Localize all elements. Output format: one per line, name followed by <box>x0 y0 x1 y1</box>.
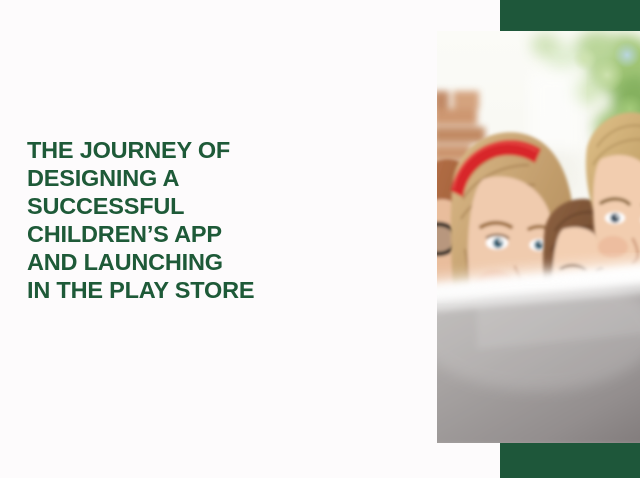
accent-band-bottom <box>500 443 640 478</box>
accent-band-top <box>500 0 640 31</box>
hero-photo-illustration <box>437 31 640 443</box>
slide-canvas: THE JOURNEY OF DESIGNING A SUCCESSFUL CH… <box>0 0 640 478</box>
title-line-1: THE JOURNEY OF <box>27 136 367 164</box>
title-line-6: IN THE PLAY STORE <box>27 276 367 304</box>
slide-title: THE JOURNEY OF DESIGNING A SUCCESSFUL CH… <box>27 136 367 304</box>
hero-photo <box>437 31 640 443</box>
title-line-3: SUCCESSFUL <box>27 192 367 220</box>
title-line-5: AND LAUNCHING <box>27 248 367 276</box>
title-line-4: CHILDREN’S APP <box>27 220 367 248</box>
title-line-2: DESIGNING A <box>27 164 367 192</box>
